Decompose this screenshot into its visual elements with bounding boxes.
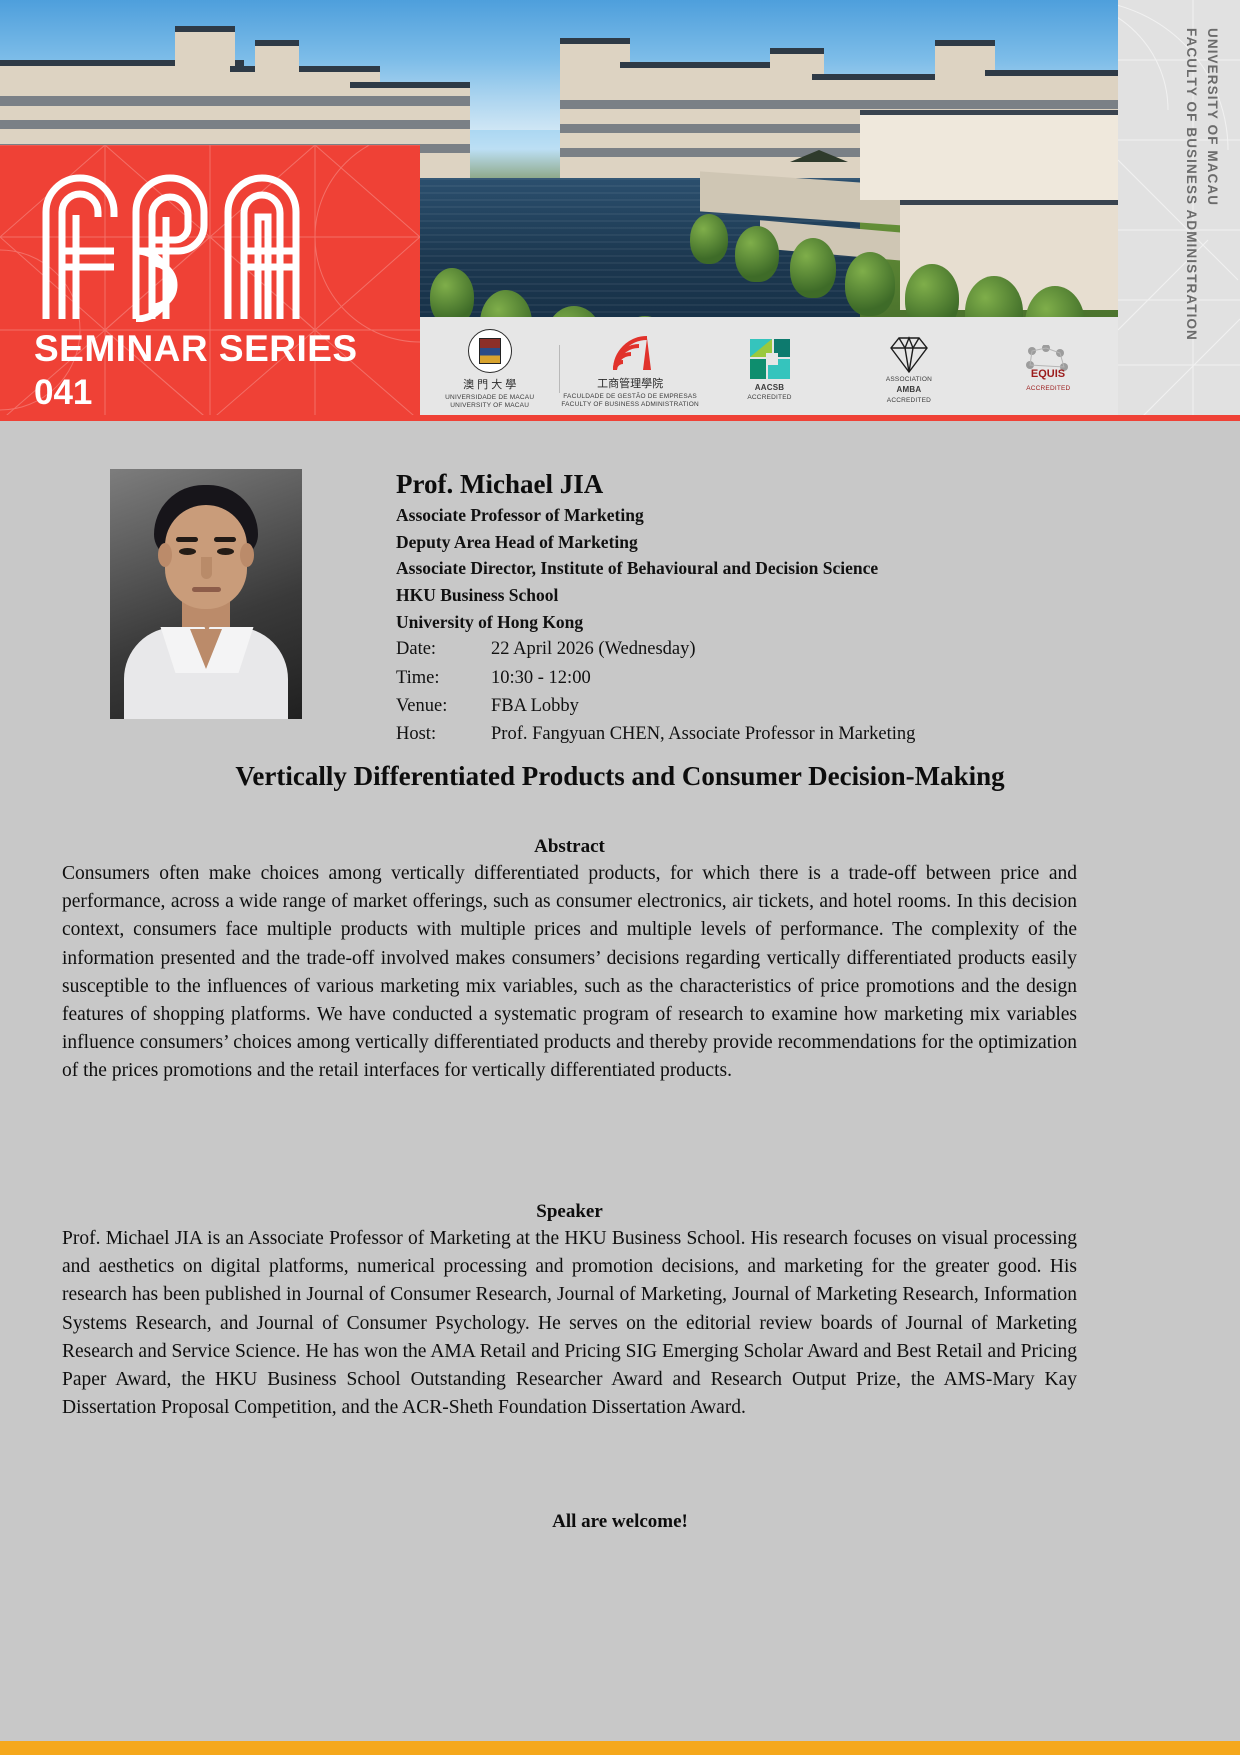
speaker-details: Prof. Michael JIA Associate Professor of… — [328, 469, 1240, 748]
abstract-section: Abstract Consumers often make choices am… — [62, 836, 1077, 1085]
speaker-portrait-wrap — [110, 469, 328, 748]
speaker-section: Prof. Michael JIA Associate Professor of… — [0, 469, 1240, 748]
poster-header: SEMINAR SERIES 041 澳 門 大 學 UNIVERSIDADE … — [0, 0, 1240, 421]
fba-chinese-name: 工商管理學院 — [597, 375, 663, 391]
aacsb-label: AACSB — [755, 383, 784, 392]
accreditation-bar: 澳 門 大 學 UNIVERSIDADE DE MACAU UNIVERSITY… — [420, 317, 1118, 421]
detail-row-date: Date: 22 April 2026 (Wednesday) — [396, 635, 1240, 663]
host-label: Host: — [396, 720, 491, 748]
detail-row-time: Time: 10:30 - 12:00 — [396, 664, 1240, 692]
speaker-title-4: HKU Business School — [396, 582, 1240, 609]
time-label: Time: — [396, 664, 491, 692]
fba-logo-block: SEMINAR SERIES 041 — [0, 145, 420, 421]
fba-english-name: FACULDADE DE GESTÃO DE EMPRESAS FACULTY … — [561, 393, 699, 408]
detail-row-venue: Venue: FBA Lobby — [396, 692, 1240, 720]
accreditation-university-of-macau: 澳 門 大 學 UNIVERSIDADE DE MACAU UNIVERSITY… — [420, 317, 559, 421]
date-value: 22 April 2026 (Wednesday) — [491, 635, 1240, 663]
poster-body: Prof. Michael JIA Associate Professor of… — [0, 421, 1240, 1755]
footer-bar — [0, 1741, 1240, 1755]
vertical-line-faculty: FACULTY OF BUSINESS ADMINISTRATION — [1184, 28, 1199, 341]
accreditation-aacsb: AACSB ACCREDITED — [700, 317, 839, 421]
venue-value: FBA Lobby — [491, 692, 1240, 720]
speaker-bio-section: Speaker Prof. Michael JIA is an Associat… — [62, 1201, 1077, 1422]
amba-sub: ACCREDITED — [887, 397, 931, 404]
date-label: Date: — [396, 635, 491, 663]
seminar-poster: SEMINAR SERIES 041 澳 門 大 學 UNIVERSIDADE … — [0, 0, 1240, 1755]
equis-sub: ACCREDITED — [1026, 385, 1070, 392]
um-english-name: UNIVERSIDADE DE MACAU UNIVERSITY OF MACA… — [445, 394, 534, 409]
detail-row-host: Host: Prof. Fangyuan CHEN, Associate Pro… — [396, 720, 1240, 748]
time-value: 10:30 - 12:00 — [491, 664, 1240, 692]
abstract-heading: Abstract — [62, 836, 1077, 858]
fba-wordmark-logo — [36, 167, 336, 322]
accreditation-equis: EQUIS ACCREDITED — [979, 317, 1118, 421]
aacsb-logo-icon — [746, 337, 794, 381]
venue-label: Venue: — [396, 692, 491, 720]
speaker-title-1: Associate Professor of Marketing — [396, 502, 1240, 529]
um-chinese-name: 澳 門 大 學 — [463, 376, 516, 392]
header-right-strip: UNIVERSITY OF MACAU FACULTY OF BUSINESS … — [1118, 0, 1240, 421]
abstract-body: Consumers often make choices among verti… — [62, 860, 1077, 1085]
university-vertical-title: UNIVERSITY OF MACAU FACULTY OF BUSINESS … — [1180, 28, 1222, 341]
equis-logo-icon: EQUIS — [1024, 345, 1072, 383]
university-of-macau-seal-icon — [468, 329, 512, 373]
accreditation-amba: ASSOCIATION AMBA ACCREDITED — [839, 317, 978, 421]
aacsb-sub: ACCREDITED — [747, 394, 791, 401]
seminar-series-label: SEMINAR SERIES — [34, 328, 358, 370]
speaker-title-3: Associate Director, Institute of Behavio… — [396, 555, 1240, 582]
seminar-series-number: 041 — [34, 373, 92, 413]
amba-label: AMBA — [897, 385, 922, 394]
amba-diamond-icon — [885, 334, 933, 374]
speaker-title-2: Deputy Area Head of Marketing — [396, 529, 1240, 556]
closing-note: All are welcome! — [0, 1511, 1240, 1533]
fba-macau-logo-icon — [607, 330, 653, 372]
svg-text:EQUIS: EQUIS — [1031, 368, 1065, 380]
speaker-name: Prof. Michael JIA — [396, 469, 1240, 499]
seminar-title: Vertically Differentiated Products and C… — [0, 761, 1240, 792]
speaker-portrait — [110, 469, 302, 719]
speaker-heading: Speaker — [62, 1201, 1077, 1223]
accreditation-fba-macau: 工商管理學院 FACULDADE DE GESTÃO DE EMPRESAS F… — [560, 317, 699, 421]
speaker-bio-body: Prof. Michael JIA is an Associate Profes… — [62, 1225, 1077, 1422]
speaker-title-5: University of Hong Kong — [396, 609, 1240, 636]
campus-building — [620, 62, 790, 180]
amba-association-label: ASSOCIATION — [886, 376, 932, 383]
vertical-line-university: UNIVERSITY OF MACAU — [1205, 28, 1220, 206]
host-value: Prof. Fangyuan CHEN, Associate Professor… — [491, 720, 1240, 748]
